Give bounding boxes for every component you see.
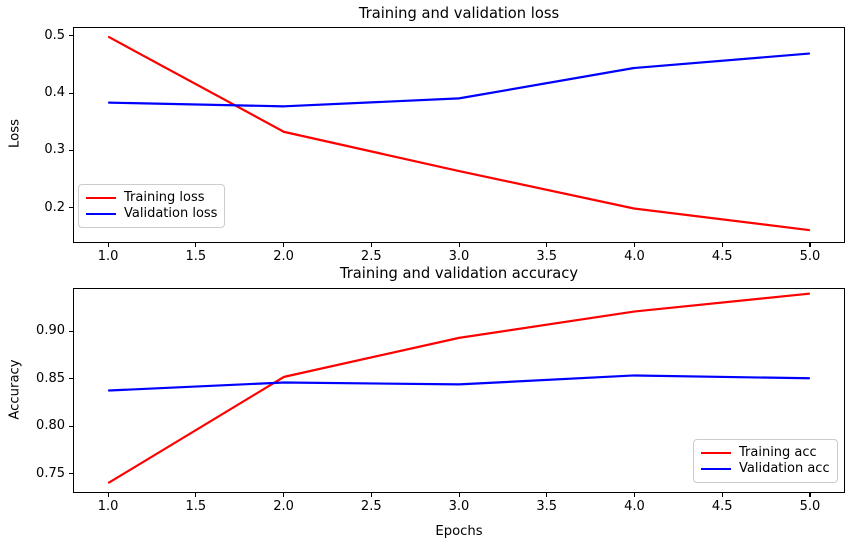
matplotlib-figure: Training and validation loss 0.20.30.40.… [0,0,855,547]
legend-item-validation-acc: Validation acc [701,461,830,477]
legend-swatch-training-acc [701,452,731,454]
legend-item-training-loss: Training loss [86,190,217,206]
x-tick-label: 4.5 [712,500,733,514]
x-tick-label: 3.5 [536,250,557,264]
x-tick-mark [283,243,284,247]
y-tick-mark [69,35,73,36]
legend-label-validation-loss: Validation loss [124,206,217,222]
accuracy-x-axis-label: Epochs [73,524,845,539]
y-tick-mark [69,378,73,379]
loss-chart-title: Training and validation loss [73,5,845,23]
accuracy-y-axis-label: Accuracy [8,329,23,449]
x-tick-mark [195,493,196,497]
x-tick-label: 5.0 [800,500,821,514]
x-tick-label: 3.0 [449,250,470,264]
y-tick-mark [69,331,73,332]
y-tick-mark [69,426,73,427]
x-tick-label: 3.5 [536,500,557,514]
x-tick-mark [634,243,635,247]
y-tick-label: 0.3 [29,143,65,157]
x-tick-mark [371,243,372,247]
x-tick-mark [634,493,635,497]
series-line-validation-loss [109,54,809,107]
x-tick-mark [108,493,109,497]
y-tick-mark [69,150,73,151]
x-tick-label: 1.0 [98,500,119,514]
y-tick-mark [69,93,73,94]
y-tick-mark [69,207,73,208]
legend-item-training-acc: Training acc [701,445,830,461]
x-tick-mark [809,243,810,247]
y-tick-label: 0.2 [29,201,65,215]
x-tick-label: 5.0 [800,250,821,264]
legend-item-validation-loss: Validation loss [86,206,217,222]
x-tick-label: 2.0 [273,500,294,514]
x-tick-label: 3.0 [449,500,470,514]
loss-chart-legend: Training loss Validation loss [78,184,225,228]
x-tick-mark [722,243,723,247]
legend-swatch-validation-acc [701,468,731,470]
x-tick-label: 4.0 [624,250,645,264]
y-tick-label: 0.5 [29,29,65,43]
x-tick-mark [809,493,810,497]
x-tick-mark [108,243,109,247]
x-tick-label: 2.5 [361,250,382,264]
legend-label-training-loss: Training loss [124,190,205,206]
x-tick-label: 1.5 [185,250,206,264]
x-tick-mark [459,493,460,497]
x-tick-label: 1.5 [185,500,206,514]
y-tick-label: 0.85 [29,372,65,386]
x-tick-label: 4.0 [624,500,645,514]
y-tick-mark [69,473,73,474]
x-tick-mark [459,243,460,247]
x-tick-mark [722,493,723,497]
y-tick-label: 0.4 [29,86,65,100]
x-tick-mark [546,243,547,247]
legend-label-training-acc: Training acc [739,445,817,461]
x-tick-mark [546,493,547,497]
accuracy-chart-title: Training and validation accuracy [73,265,845,283]
x-tick-label: 4.5 [712,250,733,264]
legend-swatch-training-loss [86,197,116,199]
legend-label-validation-acc: Validation acc [739,461,830,477]
legend-swatch-validation-loss [86,213,116,215]
x-tick-label: 1.0 [98,250,119,264]
y-tick-label: 0.75 [29,467,65,481]
x-tick-mark [371,493,372,497]
y-tick-label: 0.90 [29,324,65,338]
accuracy-chart-legend: Training acc Validation acc [693,439,838,483]
x-tick-label: 2.5 [361,500,382,514]
x-tick-mark [195,243,196,247]
x-tick-label: 2.0 [273,250,294,264]
y-tick-label: 0.80 [29,419,65,433]
x-tick-mark [283,493,284,497]
series-line-validation-acc [109,375,809,390]
loss-y-axis-label: Loss [8,74,23,194]
